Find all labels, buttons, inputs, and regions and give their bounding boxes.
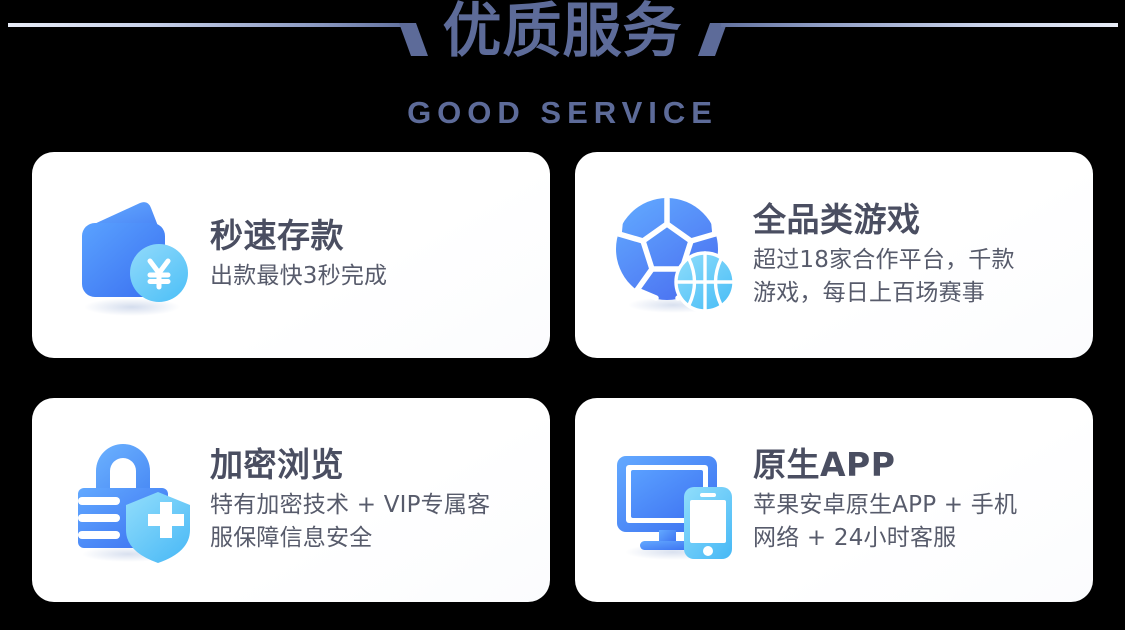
card-text-games: 全品类游戏 超过18家合作平台，千款 游戏，每日上百场赛事 [745, 201, 1067, 310]
header-line-right [721, 23, 1118, 27]
header-title-bar: 优质服务 [0, 0, 1125, 62]
feature-card-native-app[interactable]: 原生APP 苹果安卓原生APP + 手机 网络 + 24小时客服 [575, 398, 1093, 602]
page-subtitle: GOOD SERVICE [0, 95, 1125, 131]
card-text-deposit: 秒速存款 出款最快3秒完成 [202, 217, 524, 293]
card-description: 出款最快3秒完成 [210, 260, 524, 293]
page-header: 优质服务 GOOD SERVICE [0, 0, 1125, 146]
header-decoration-left [0, 0, 439, 62]
header-decoration-right [687, 0, 1125, 62]
card-text-encryption: 加密浏览 特有加密技术 + VIP专属客 服保障信息安全 [202, 446, 524, 555]
card-description: 苹果安卓原生APP + 手机 网络 + 24小时客服 [753, 489, 1067, 554]
card-description-line: 超过18家合作平台，千款 [753, 244, 1067, 277]
card-title: 全品类游戏 [753, 201, 1067, 239]
card-description-line: 游戏，每日上百场赛事 [753, 277, 1067, 310]
card-description: 超过18家合作平台，千款 游戏，每日上百场赛事 [753, 244, 1067, 309]
card-title: 原生APP [753, 446, 1067, 484]
header-line-left [8, 23, 405, 27]
card-description-line: 出款最快3秒完成 [210, 260, 524, 293]
card-title: 秒速存款 [210, 217, 524, 255]
page-title: 优质服务 [443, 1, 683, 61]
card-description-line: 服保障信息安全 [210, 522, 524, 555]
soccer-basketball-icon [605, 185, 745, 325]
card-description-line: 网络 + 24小时客服 [753, 522, 1067, 555]
header-slash-right [698, 23, 727, 56]
wallet-coin-icon [62, 185, 202, 325]
page-root: 优质服务 GOOD SERVICE [0, 0, 1125, 630]
page-title-wrap: 优质服务 [439, 1, 687, 61]
card-title: 加密浏览 [210, 446, 524, 484]
lock-shield-icon [62, 430, 202, 570]
feature-card-encryption[interactable]: 加密浏览 特有加密技术 + VIP专属客 服保障信息安全 [32, 398, 550, 602]
card-text-native-app: 原生APP 苹果安卓原生APP + 手机 网络 + 24小时客服 [745, 446, 1067, 555]
card-description-line: 特有加密技术 + VIP专属客 [210, 489, 524, 522]
feature-card-games[interactable]: 全品类游戏 超过18家合作平台，千款 游戏，每日上百场赛事 [575, 152, 1093, 358]
card-description: 特有加密技术 + VIP专属客 服保障信息安全 [210, 489, 524, 554]
card-description-line: 苹果安卓原生APP + 手机 [753, 489, 1067, 522]
header-slash-left [398, 23, 427, 56]
feature-card-deposit[interactable]: 秒速存款 出款最快3秒完成 [32, 152, 550, 358]
monitor-phone-icon [605, 430, 745, 570]
feature-card-grid: 秒速存款 出款最快3秒完成 [32, 152, 1093, 602]
